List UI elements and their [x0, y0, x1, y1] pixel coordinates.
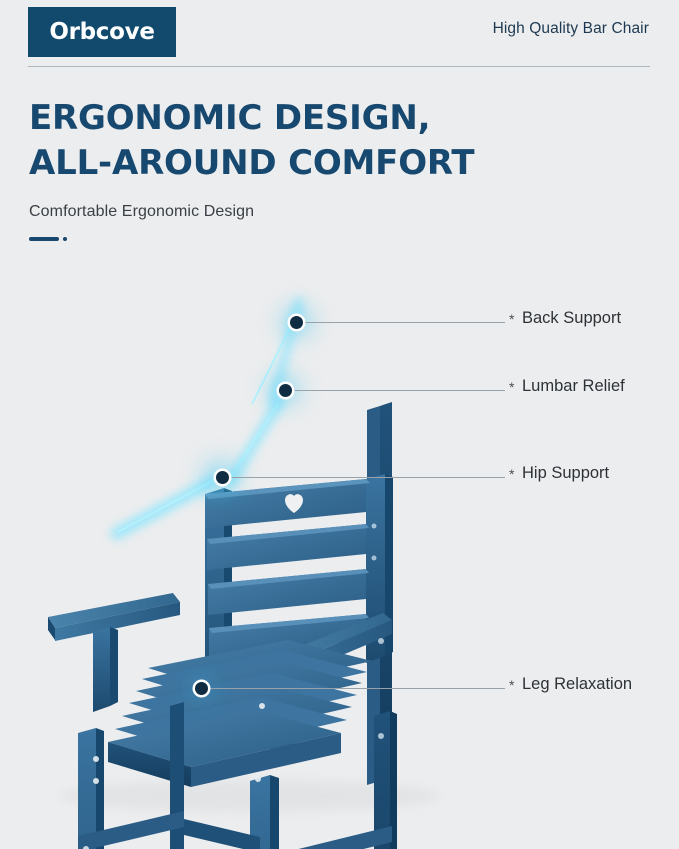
page-title-line-2: ALL-AROUND COMFORT	[29, 141, 649, 186]
header: Orbcove High Quality Bar Chair	[0, 0, 679, 72]
page-title-line-1: ERGONOMIC DESIGN,	[29, 96, 649, 141]
front-center-leg-side	[270, 775, 279, 849]
rear-cross-stretcher	[184, 819, 260, 849]
infographic-page: Orbcove High Quality Bar Chair ERGONOMIC…	[0, 0, 679, 849]
product-image-stage	[0, 236, 679, 849]
brand-logo: Orbcove	[28, 7, 176, 57]
front-left-leg	[78, 728, 96, 849]
right-upper-stretcher	[270, 826, 392, 849]
title-block: ERGONOMIC DESIGN, ALL-AROUND COMFORT Com…	[29, 96, 649, 241]
left-arm-post	[93, 627, 110, 712]
left-arm-post-side	[110, 627, 118, 706]
brand-logo-text: Orbcove	[49, 19, 154, 45]
bar-chair-illustration	[0, 236, 679, 849]
header-tagline: High Quality Bar Chair	[493, 20, 649, 38]
page-subtitle: Comfortable Ergonomic Design	[29, 203, 649, 221]
header-divider	[28, 66, 650, 67]
